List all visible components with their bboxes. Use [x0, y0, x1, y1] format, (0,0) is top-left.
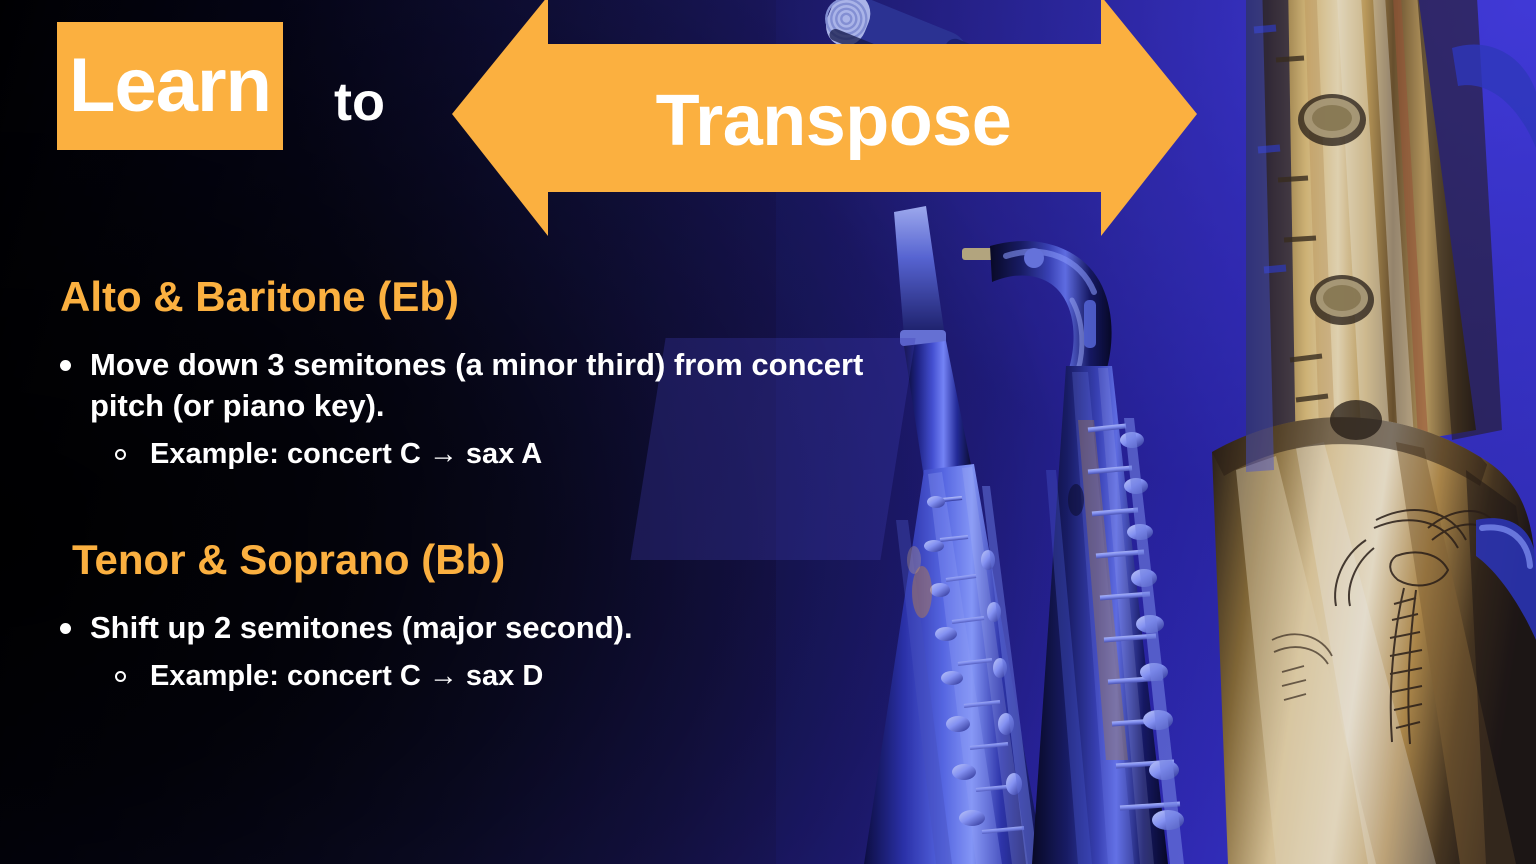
learn-label: Learn	[69, 48, 271, 124]
section-tenor-soprano: Tenor & Soprano (Bb) Shift up 2 semitone…	[0, 535, 900, 695]
sub-bullet-list: Example: concert C → sax A	[90, 435, 900, 474]
transpose-arrow: Transpose	[452, 0, 1197, 246]
bullet-text: Shift up 2 semitones (major second).	[90, 610, 633, 645]
sub-bullet-item: Example: concert C → sax D	[90, 657, 900, 696]
bullet-item: Shift up 2 semitones (major second). Exa…	[0, 607, 900, 695]
to-label: to	[334, 75, 385, 129]
section-heading-tenor-soprano: Tenor & Soprano (Bb)	[0, 535, 900, 585]
sub-bullet-ring-icon	[115, 449, 126, 460]
slide-canvas: Learn to Transpose Alto & Baritone (Eb) …	[0, 0, 1536, 864]
learn-highlight-box: Learn	[57, 22, 283, 150]
section-alto-baritone: Alto & Baritone (Eb) Move down 3 semiton…	[0, 272, 900, 473]
bullet-dot-icon	[60, 360, 71, 371]
content-area: Alto & Baritone (Eb) Move down 3 semiton…	[0, 272, 900, 695]
transpose-label: Transpose	[452, 0, 1197, 246]
bullet-list-alto-baritone: Move down 3 semitones (a minor third) fr…	[0, 344, 900, 474]
bullet-list-tenor-soprano: Shift up 2 semitones (major second). Exa…	[0, 607, 900, 695]
sub-bullet-text: Example: concert C → sax D	[150, 660, 543, 692]
section-heading-alto-baritone: Alto & Baritone (Eb)	[0, 272, 900, 322]
section-spacer	[0, 473, 900, 535]
bullet-dot-icon	[60, 623, 71, 634]
bullet-item: Move down 3 semitones (a minor third) fr…	[0, 344, 900, 474]
sub-bullet-text: Example: concert C → sax A	[150, 438, 542, 470]
bullet-text: Move down 3 semitones (a minor third) fr…	[90, 347, 863, 424]
header: Learn to Transpose	[0, 0, 1536, 250]
sub-bullet-list: Example: concert C → sax D	[90, 657, 900, 696]
sub-bullet-ring-icon	[115, 671, 126, 682]
sub-bullet-item: Example: concert C → sax A	[90, 435, 900, 474]
bell-engraving	[1335, 510, 1492, 744]
